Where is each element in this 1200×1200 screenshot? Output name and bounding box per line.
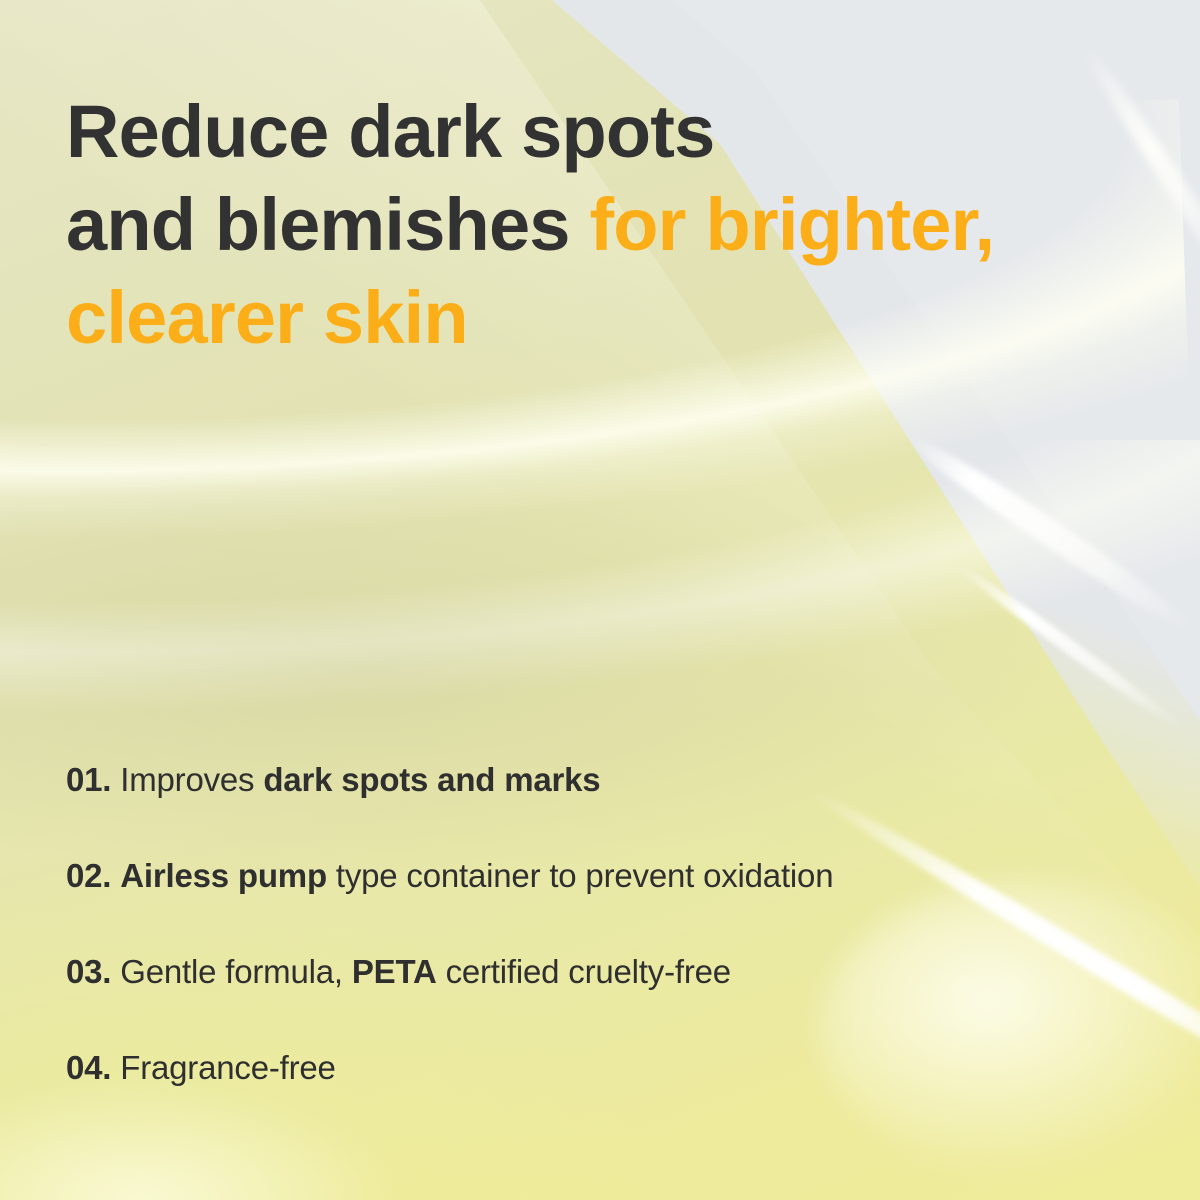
headline-line-3-accent: clearer skin	[66, 276, 468, 359]
feature-lead-text: Fragrance-free	[120, 1049, 335, 1086]
feature-tail-text: type container to prevent oxidation	[336, 857, 834, 894]
feature-strong-text: Airless pump	[120, 857, 327, 894]
list-item: 04. Fragrance-free	[66, 1046, 1166, 1090]
feature-lead-text: Improves	[120, 761, 254, 798]
headline-line-2-accent: for brighter,	[589, 183, 994, 266]
list-item: 02. Airless pump type container to preve…	[66, 854, 1166, 898]
feature-list: 01. Improves dark spots and marks 02. Ai…	[66, 758, 1166, 1090]
feature-lead-text: Gentle formula,	[120, 953, 343, 990]
feature-strong-text: dark spots and marks	[263, 761, 600, 798]
feature-strong-text: PETA	[352, 953, 437, 990]
headline-line-2-dark: and blemishes	[66, 183, 570, 266]
feature-number: 04.	[66, 1049, 111, 1086]
page-title: Reduce dark spotsand blemishes for brigh…	[66, 85, 1156, 364]
list-item: 01. Improves dark spots and marks	[66, 758, 1166, 802]
headline-line-1: Reduce dark spots	[66, 90, 715, 173]
feature-number: 03.	[66, 953, 111, 990]
feature-number: 01.	[66, 761, 111, 798]
feature-tail-text: certified cruelty-free	[446, 953, 731, 990]
product-feature-banner: Reduce dark spotsand blemishes for brigh…	[0, 0, 1200, 1200]
feature-number: 02.	[66, 857, 111, 894]
list-item: 03. Gentle formula, PETA certified cruel…	[66, 950, 1166, 994]
